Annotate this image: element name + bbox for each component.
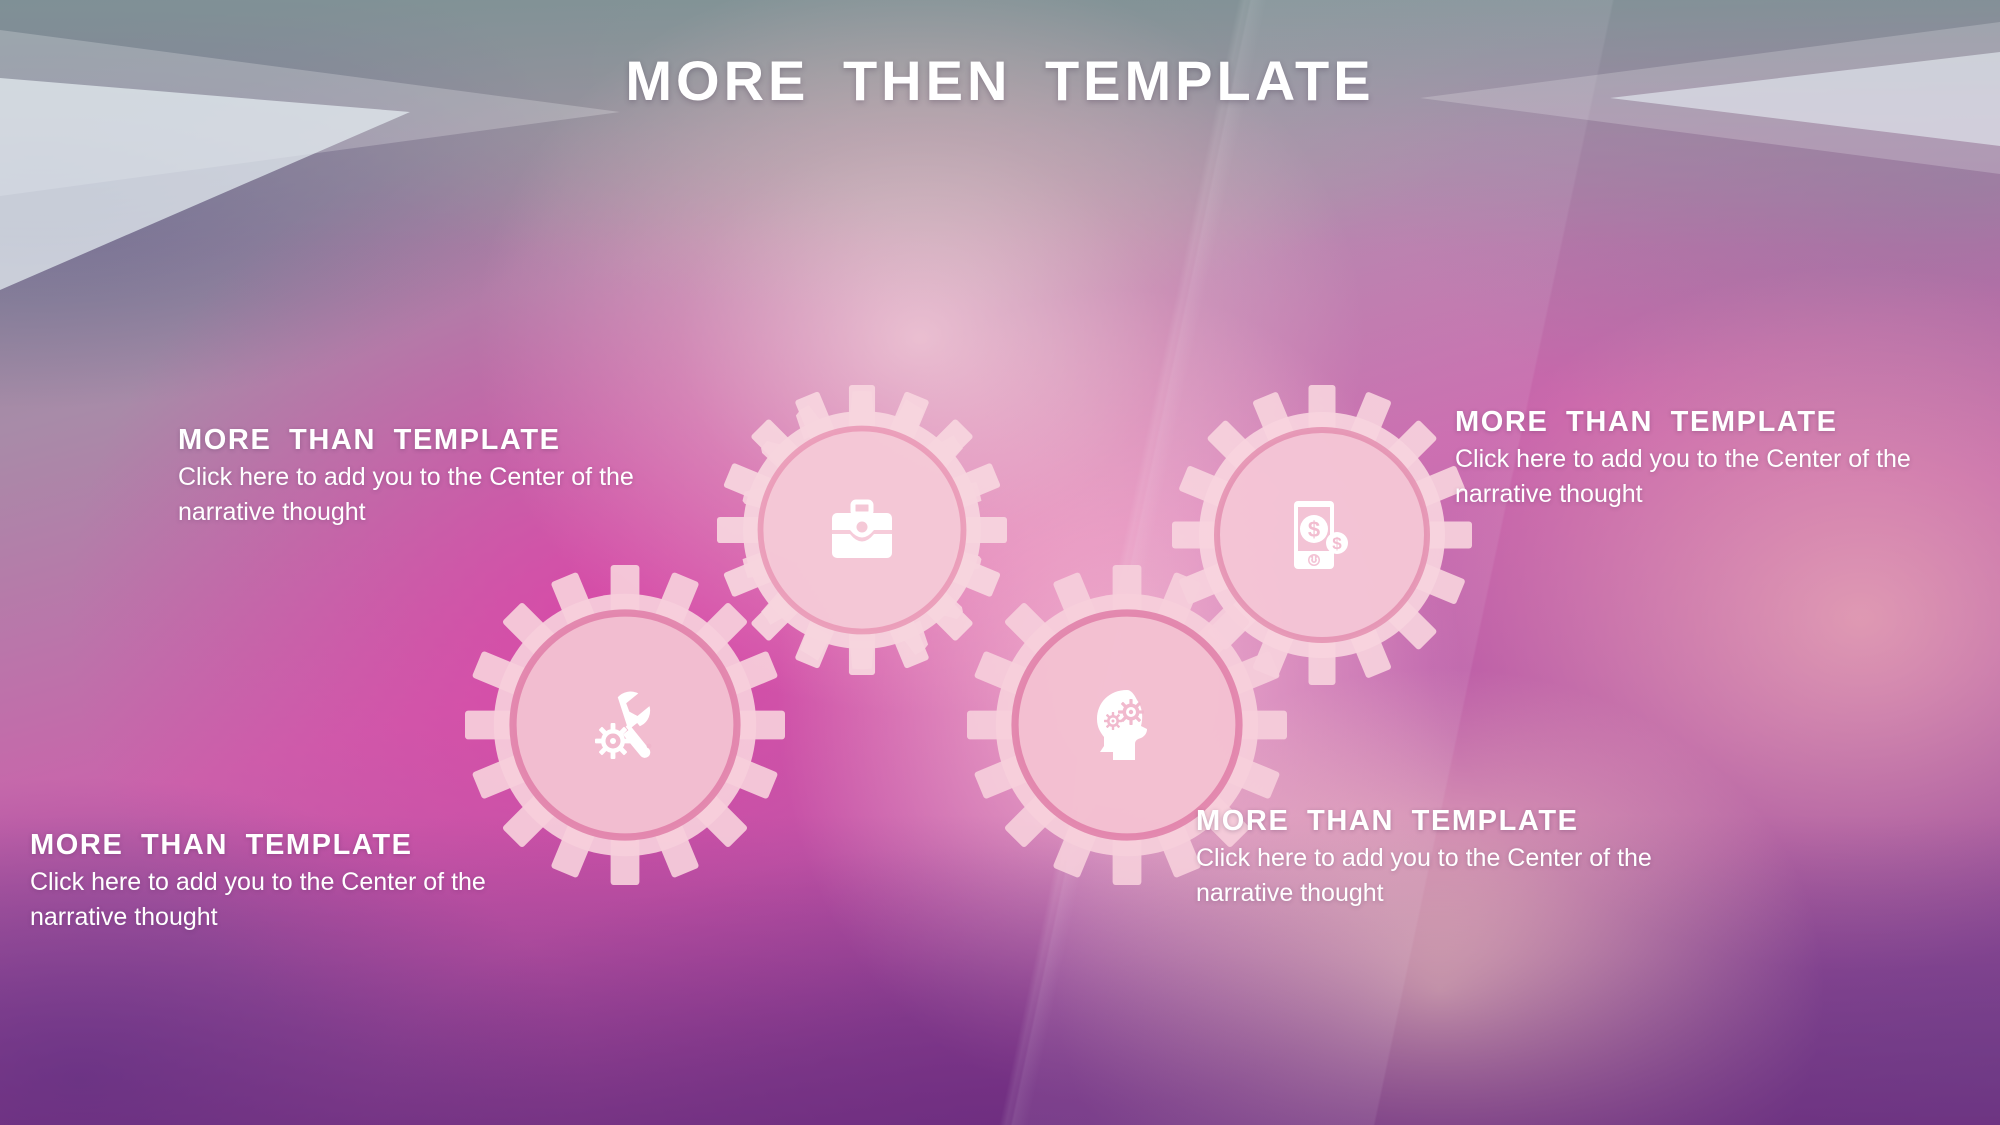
callout-body: Click here to add you to the Center of t…	[1196, 841, 1756, 910]
gear-ring-wrench	[513, 613, 737, 837]
page-title: MORE THEN TEMPLATE	[0, 48, 2000, 113]
callout-bottom-left[interactable]: MORE THAN TEMPLATE Click here to add you…	[30, 829, 590, 934]
callout-body: Click here to add you to the Center of t…	[30, 865, 590, 934]
gear-ring-mind	[1015, 613, 1239, 837]
callout-heading: MORE THAN TEMPLATE	[1455, 406, 2000, 439]
callout-heading: MORE THAN TEMPLATE	[1196, 805, 1756, 838]
callout-top-left[interactable]: MORE THAN TEMPLATE Click here to add you…	[178, 424, 738, 529]
callout-body: Click here to add you to the Center of t…	[178, 460, 738, 529]
callout-bottom-right[interactable]: MORE THAN TEMPLATE Click here to add you…	[1196, 805, 1756, 910]
callout-heading: MORE THAN TEMPLATE	[178, 424, 738, 457]
slide-canvas: MORE THEN TEMPLATE	[0, 0, 2000, 1125]
callout-top-right[interactable]: MORE THAN TEMPLATE Click here to add you…	[1455, 406, 2000, 511]
gear-ring-briefcase	[761, 429, 964, 632]
callout-heading: MORE THAN TEMPLATE	[30, 829, 590, 862]
background-top-wash	[0, 0, 2000, 300]
callout-body: Click here to add you to the Center of t…	[1455, 442, 2000, 511]
